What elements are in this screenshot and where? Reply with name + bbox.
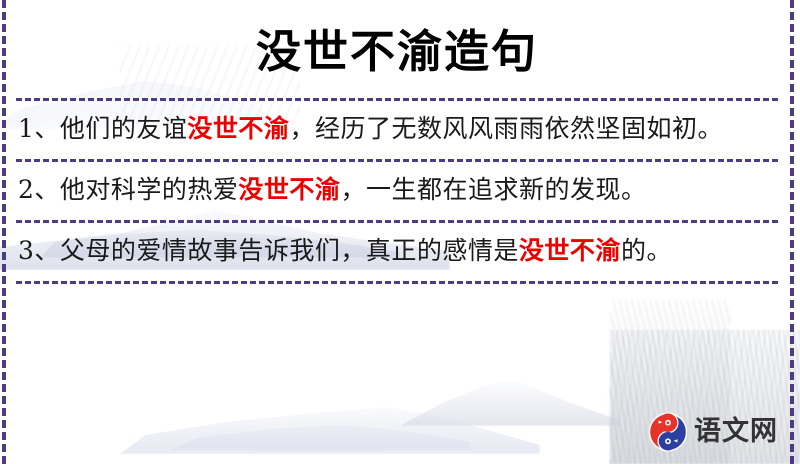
sentence-3-index: 3、 (18, 236, 60, 265)
page-border-left (2, 0, 6, 464)
divider-after-sentence-3 (16, 281, 778, 284)
sentence-2-after: ，一生都在追求新的发现。 (340, 175, 646, 204)
site-logo-text: 语文网 (694, 417, 778, 447)
page-border-right (790, 0, 794, 464)
example-sentence-1: 1、他们的友谊没世不渝，经历了无数风风雨雨依然坚固如初。 (16, 101, 778, 159)
site-logo: 语文网 (648, 412, 778, 452)
sentence-1-index: 1、 (18, 114, 60, 143)
page-title: 没世不渝造句 (16, 0, 778, 80)
example-sentence-3: 3、父母的爱情故事告诉我们，真正的感情是没世不渝的。 (16, 223, 778, 281)
sentence-2-keyword: 没世不渝 (238, 175, 340, 204)
sentence-3-after: 的。 (621, 236, 672, 265)
page-root: 没世不渝造句 1、他们的友谊没世不渝，经历了无数风风雨雨依然坚固如初。 2、他对… (0, 0, 800, 464)
page-content: 没世不渝造句 1、他们的友谊没世不渝，经历了无数风风雨雨依然坚固如初。 2、他对… (0, 0, 800, 464)
sentence-3-keyword: 没世不渝 (519, 236, 621, 265)
sentence-1-after: ，经历了无数风风雨雨依然坚固如初。 (289, 114, 723, 143)
sentence-1-keyword: 没世不渝 (187, 114, 289, 143)
sentence-1-before: 他们的友谊 (60, 114, 188, 143)
example-sentence-2: 2、他对科学的热爱没世不渝，一生都在追求新的发现。 (16, 162, 778, 220)
sentence-3-before: 父母的爱情故事告诉我们，真正的感情是 (60, 236, 519, 265)
yinyang-fish-logo-icon (648, 412, 688, 452)
sentence-2-index: 2、 (18, 175, 60, 204)
sentence-2-before: 他对科学的热爱 (60, 175, 239, 204)
